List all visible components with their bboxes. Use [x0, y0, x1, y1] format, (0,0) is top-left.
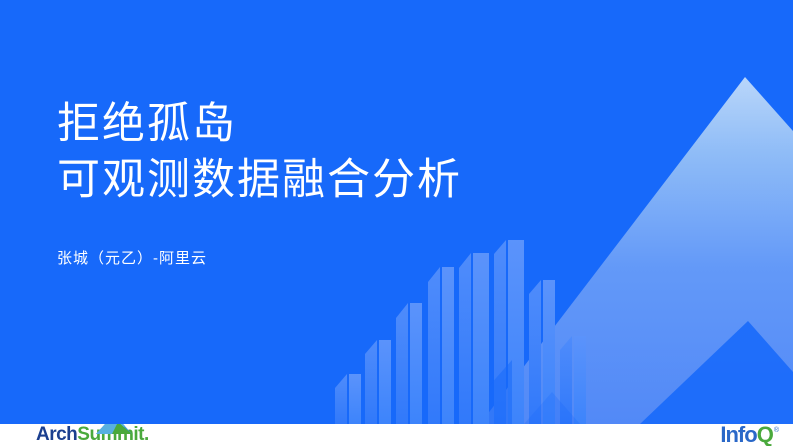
infoq-registered-mark: ®: [774, 426, 779, 435]
building-bar-2: [365, 340, 377, 424]
infoq-info-text: Info: [720, 424, 756, 446]
slide-footer: ArchSummit. InfoQ ®: [0, 424, 793, 446]
building-bar-8b: [574, 336, 586, 424]
infoq-logo: InfoQ ®: [720, 424, 779, 446]
archsummit-dot: .: [144, 424, 149, 445]
slide-canvas: 拒绝孤岛 可观测数据融合分析 张城（元乙）-阿里云: [0, 0, 793, 424]
building-bar-1b: [349, 374, 361, 424]
archsummit-peak-icon: [92, 424, 136, 435]
building-bar-1: [335, 374, 347, 424]
slide-subtitle-speaker: 张城（元乙）-阿里云: [57, 248, 207, 270]
infoq-wordmark: InfoQ: [720, 424, 772, 446]
slide-title: 拒绝孤岛 可观测数据融合分析: [57, 96, 697, 208]
title-line-1: 拒绝孤岛: [57, 96, 697, 152]
building-bar-4: [428, 267, 440, 424]
infoq-q-text: Q: [757, 424, 773, 446]
archsummit-arch-text: Arch: [36, 424, 77, 445]
title-line-2: 可观测数据融合分析: [57, 152, 697, 208]
mountain-and-buildings-graphic: [0, 0, 793, 424]
building-bar-5: [459, 253, 471, 424]
archsummit-wordmark: ArchSummit.: [36, 424, 149, 446]
building-bar-2b: [379, 340, 391, 424]
building-bar-7: [529, 280, 541, 424]
building-bar-3: [396, 303, 408, 424]
presentation-slide: 拒绝孤岛 可观测数据融合分析 张城（元乙）-阿里云 ArchSummit. In…: [0, 0, 793, 446]
building-bar-3b: [410, 303, 422, 424]
building-bar-4b: [442, 267, 454, 424]
building-bar-5b: [473, 253, 489, 424]
archsummit-logo: ArchSummit.: [36, 424, 149, 446]
